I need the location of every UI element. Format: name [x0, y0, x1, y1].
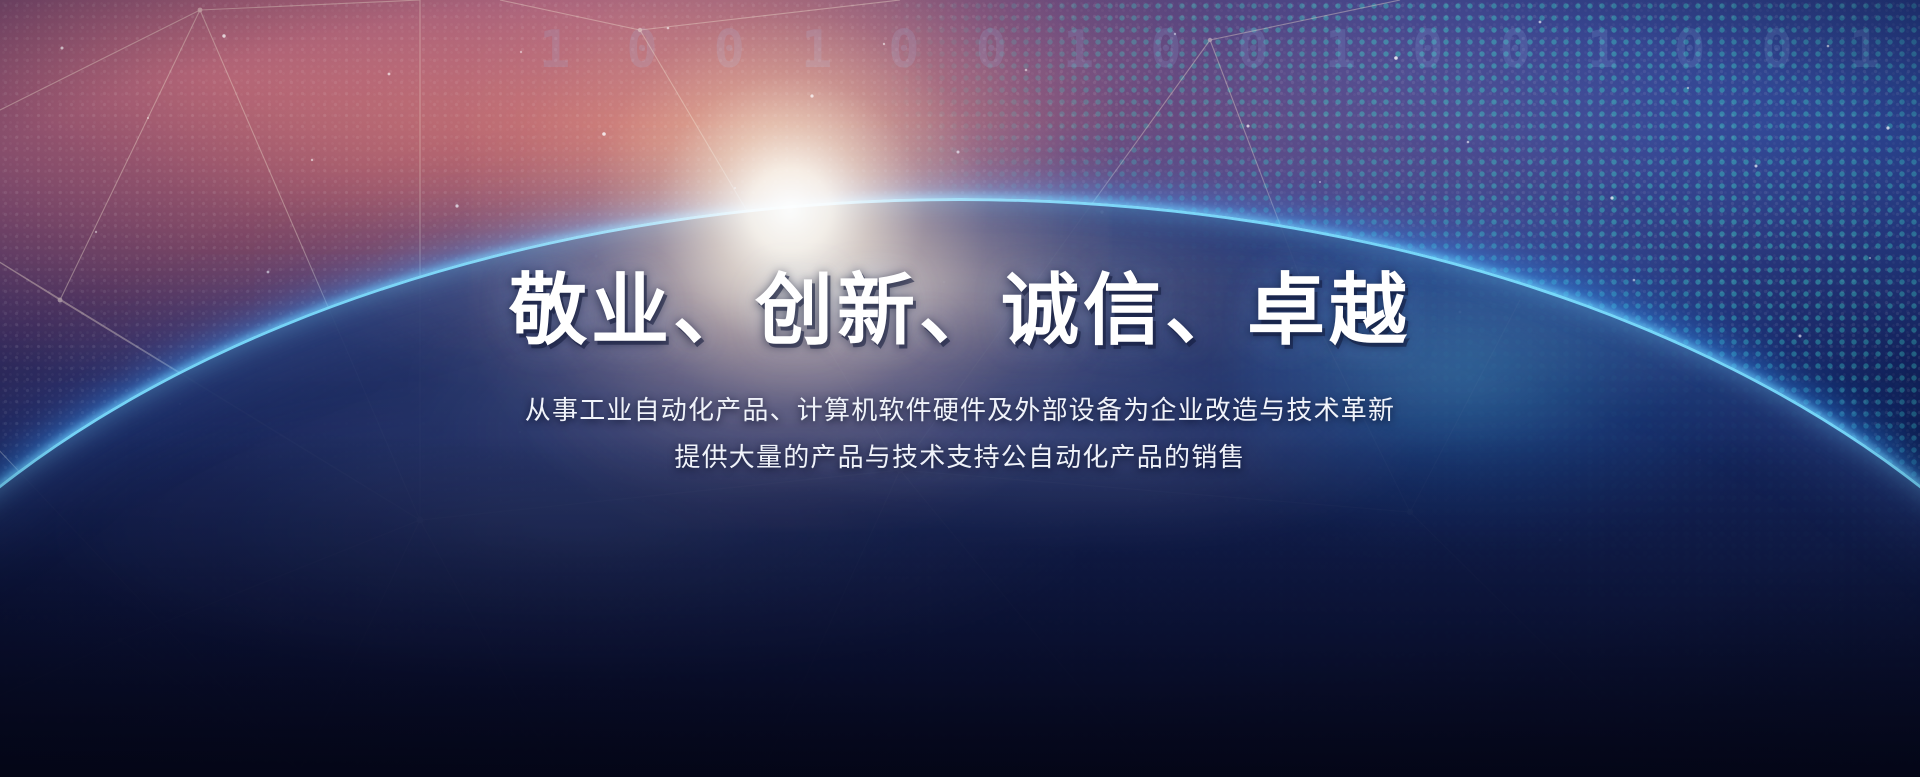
page-title: 敬业、创新、诚信、卓越: [0, 268, 1920, 352]
subtitle-line-2: 提供大量的产品与技术支持公自动化产品的销售: [0, 435, 1920, 480]
hero-copy-block: 敬业、创新、诚信、卓越 从事工业自动化产品、计算机软件硬件及外部设备为企业改造与…: [0, 268, 1920, 480]
hero-banner: 1 0 0 1 0 0 1 0 0 1 0 0 1 0 0 1: [0, 0, 1920, 777]
hero-subtitle: 从事工业自动化产品、计算机软件硬件及外部设备为企业改造与技术革新 提供大量的产品…: [0, 388, 1920, 479]
subtitle-line-1: 从事工业自动化产品、计算机软件硬件及外部设备为企业改造与技术革新: [0, 388, 1920, 433]
